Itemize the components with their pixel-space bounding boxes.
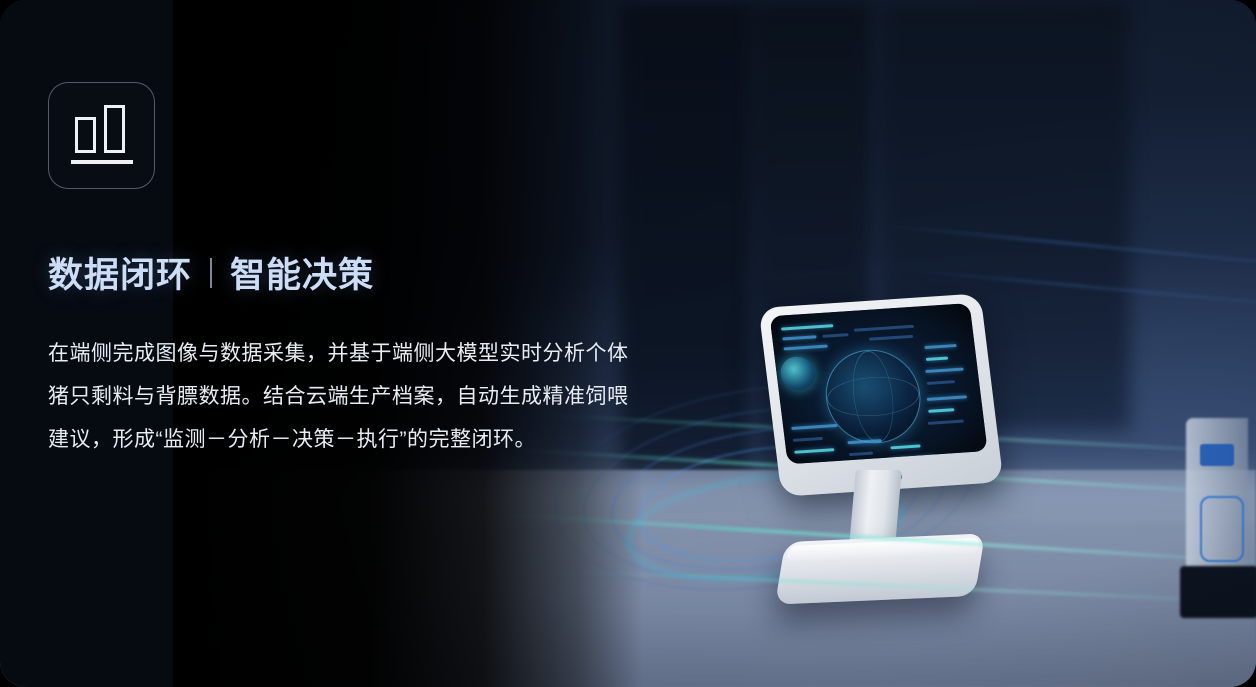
title-primary: 数据闭环 (48, 247, 192, 298)
screenshot-stage: 数据闭环 智能决策 在端侧完成图像与数据采集，并基于端侧大模型实时分析个体 猪只… (0, 0, 1256, 687)
description-line: 建议，形成“监测－分析－决策－执行”的完整闭环。 (48, 418, 718, 461)
bar-chart-glyph (71, 108, 133, 164)
description-line: 在端侧完成图像与数据采集，并基于端侧大模型实时分析个体 (48, 332, 718, 375)
bar-chart-icon (48, 82, 155, 189)
feature-content: 数据闭环 智能决策 在端侧完成图像与数据采集，并基于端侧大模型实时分析个体 猪只… (48, 82, 728, 461)
feature-card: 数据闭环 智能决策 在端侧完成图像与数据采集，并基于端侧大模型实时分析个体 猪只… (0, 0, 1256, 687)
title-separator (210, 258, 212, 288)
description-line: 猪只剩料与背膘数据。结合云端生产档案，自动生成精准饲喂 (48, 375, 718, 418)
feature-description: 在端侧完成图像与数据采集，并基于端侧大模型实时分析个体 猪只剩料与背膘数据。结合… (48, 332, 718, 461)
title-secondary: 智能决策 (230, 247, 374, 298)
bar-chart-bar (75, 117, 96, 153)
bar-chart-baseline (71, 160, 133, 164)
bar-chart-bar (104, 105, 125, 153)
feature-title: 数据闭环 智能决策 (48, 247, 728, 298)
